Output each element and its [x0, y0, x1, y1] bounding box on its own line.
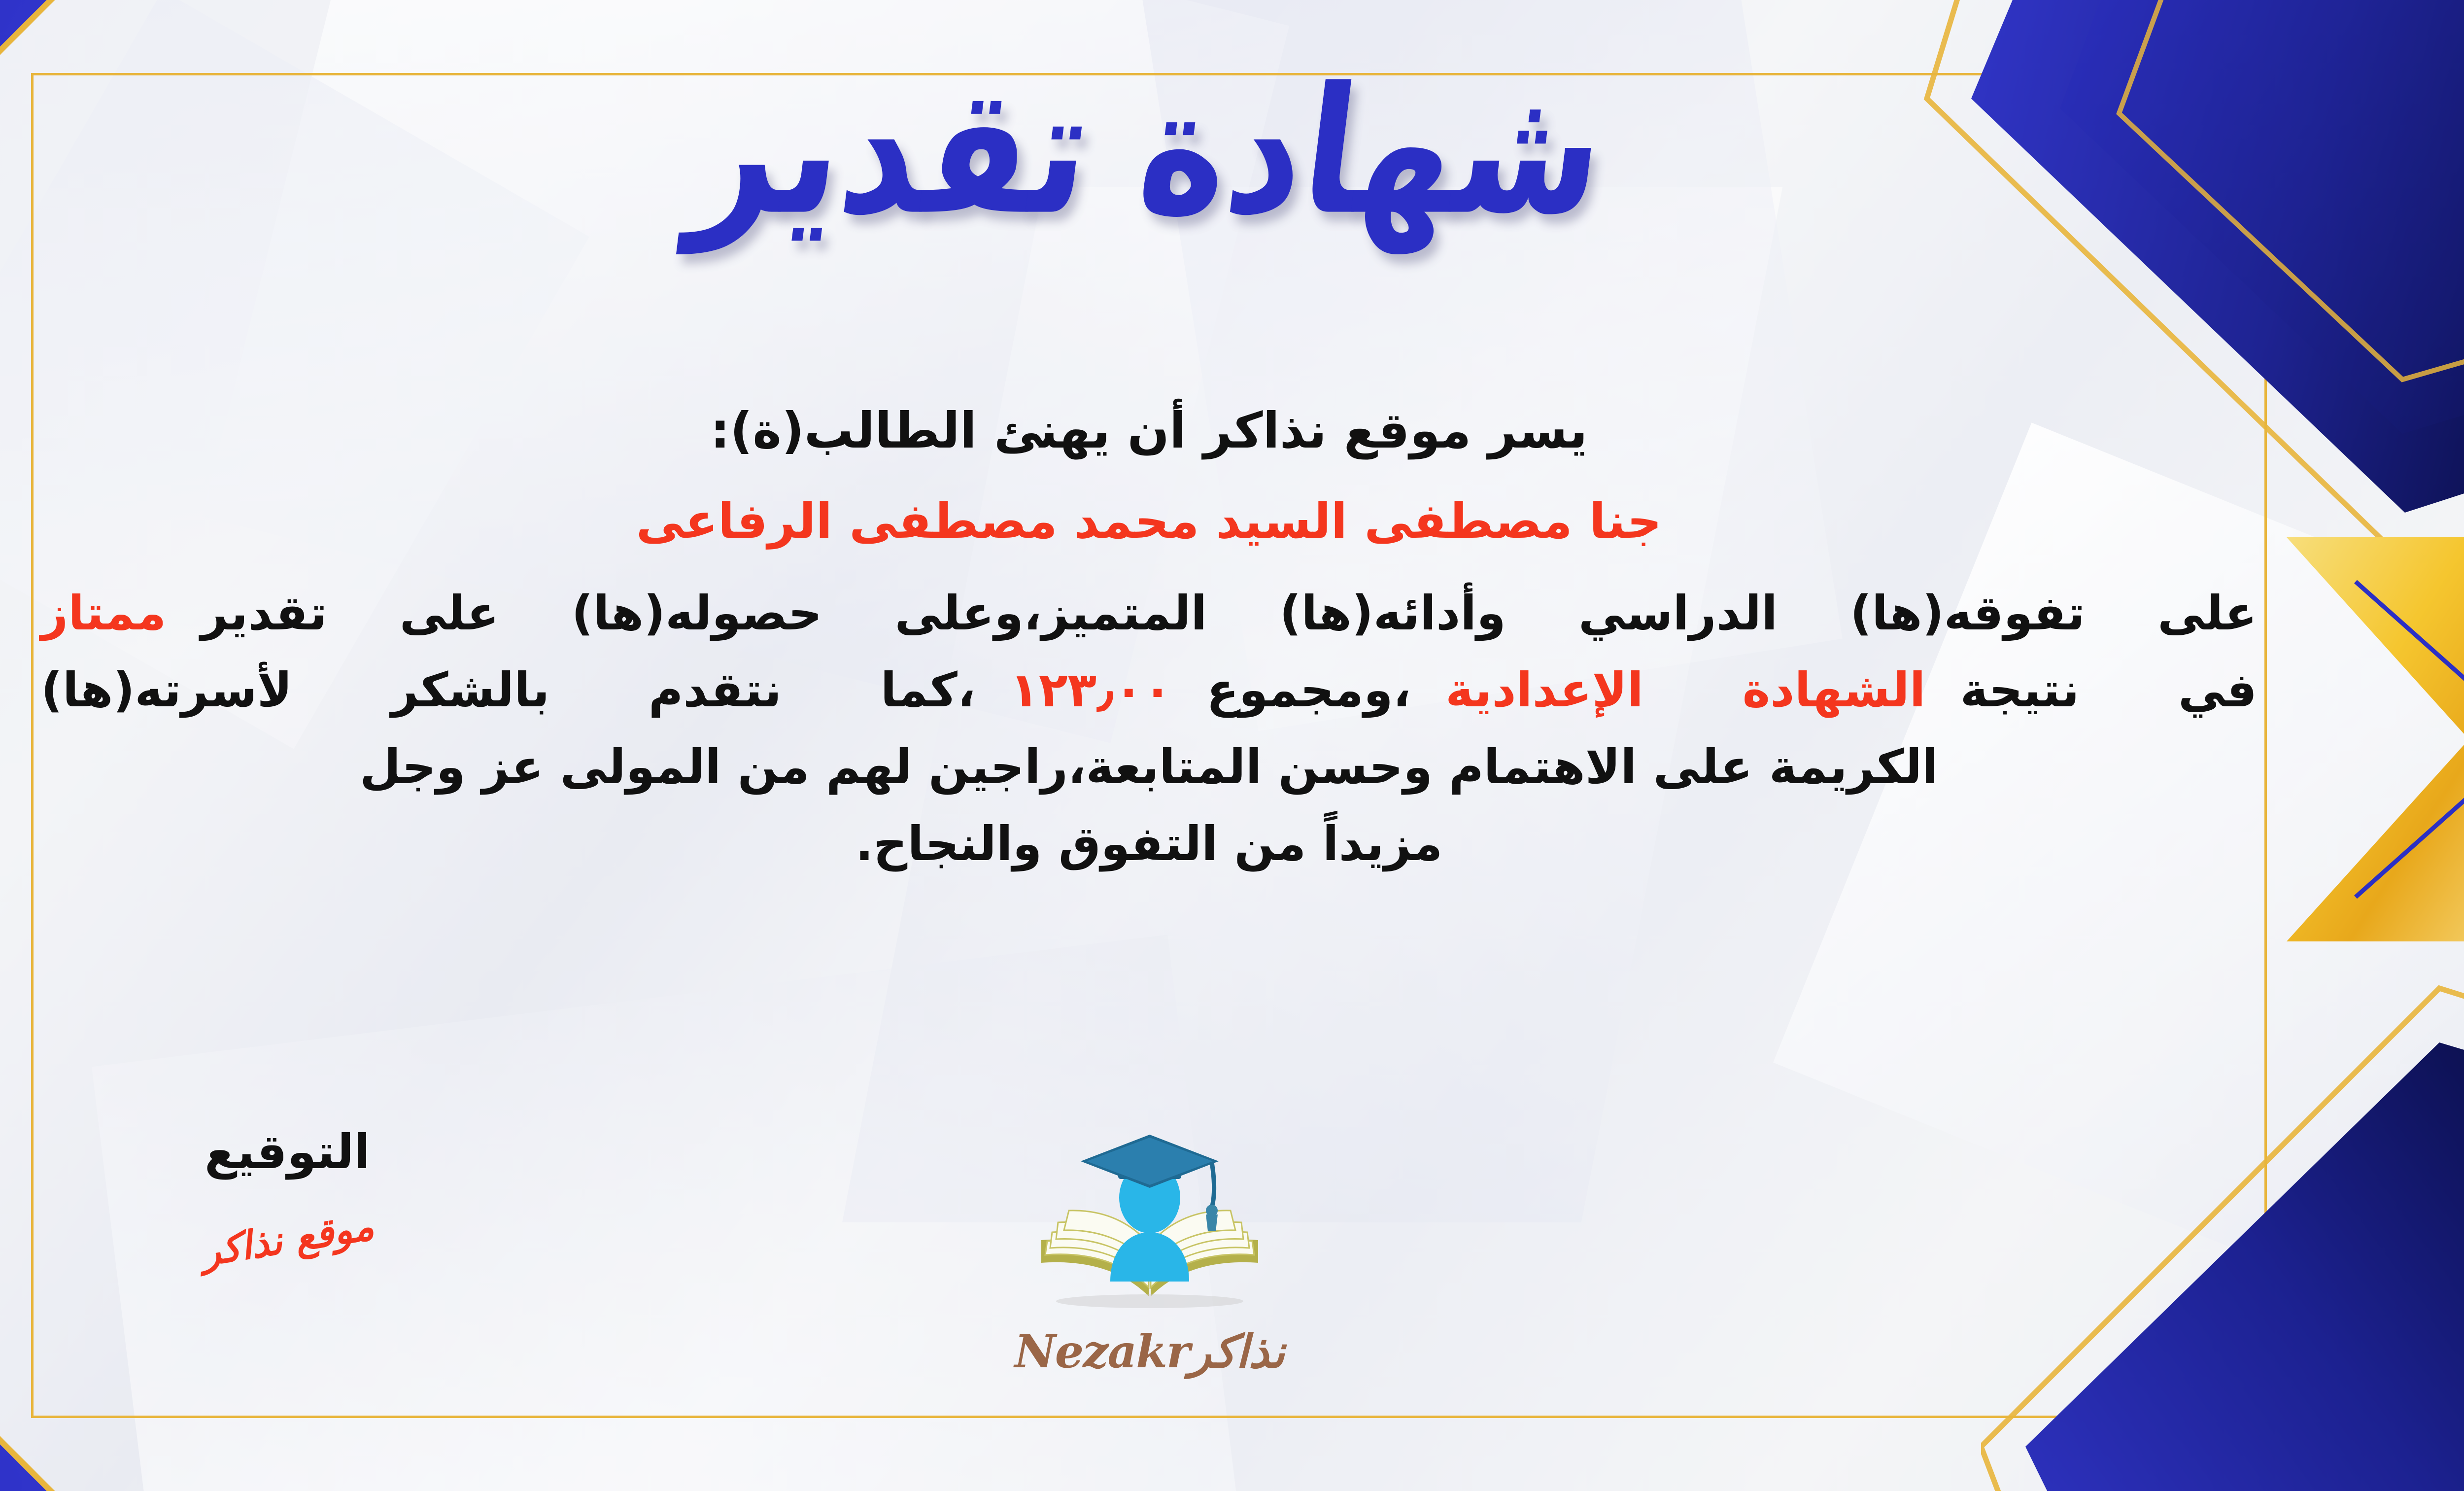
closing-line-1: الكريمة على الاهتمام وحسن المتابعة،راجين…: [41, 732, 2257, 802]
intro-line: يسر موقع نذاكر أن يهنئ الطالب(ة):: [41, 394, 2257, 467]
logo-text-arabic: نذاكر: [1189, 1325, 1285, 1378]
certificate-canvas: شهادة تقدير يسر موقع نذاكر أن يهنئ الطال…: [0, 0, 2464, 1491]
logo-wordmark: نذاكرNezakr: [962, 1325, 1337, 1378]
praise-text: على تفوقه(ها) الدراسي وأدائه(ها) المتميز…: [201, 586, 2257, 641]
certificate-body: يسر موقع نذاكر أن يهنئ الطالب(ة): جنا مص…: [41, 394, 2257, 886]
signature-block: التوقيع موقع نذاكر: [149, 1124, 425, 1262]
exam-result-line: في نتيجةالشهادة الإعدادية،ومجموع١٢٣٫٠٠،ك…: [41, 655, 2257, 725]
exam-name: الشهادة الإعدادية: [1445, 662, 1926, 718]
graduate-book-logo-icon: [1022, 1134, 1278, 1331]
student-name: جنا مصطفى السيد محمد مصطفى الرفاعى: [41, 486, 2257, 557]
grade-value: ممتاز: [41, 586, 166, 641]
page-title: شهادة تقدير: [682, 42, 1616, 261]
closing-line-2: مزيداً من التفوق والنجاح.: [41, 809, 2257, 879]
certificate-title-block: شهادة تقدير: [0, 59, 2464, 271]
total-label: ،ومجموع: [1206, 662, 1411, 718]
total-score: ١٢٣٫٠٠: [1010, 662, 1172, 718]
site-logo: نذاكرNezakr: [962, 1134, 1337, 1378]
logo-text-latin: Nezakr: [1015, 1325, 1190, 1378]
exam-prefix-text: في نتيجة: [1960, 662, 2257, 718]
corner-ornament-bottom-right: [1981, 978, 2464, 1491]
signature-label: التوقيع: [149, 1124, 425, 1180]
thanks-text: ،كما نتقدم بالشكر لأسرته(ها): [41, 662, 975, 718]
praise-line: على تفوقه(ها) الدراسي وأدائه(ها) المتميز…: [41, 578, 2257, 648]
handwritten-signature: موقع نذاكر: [198, 1204, 376, 1275]
